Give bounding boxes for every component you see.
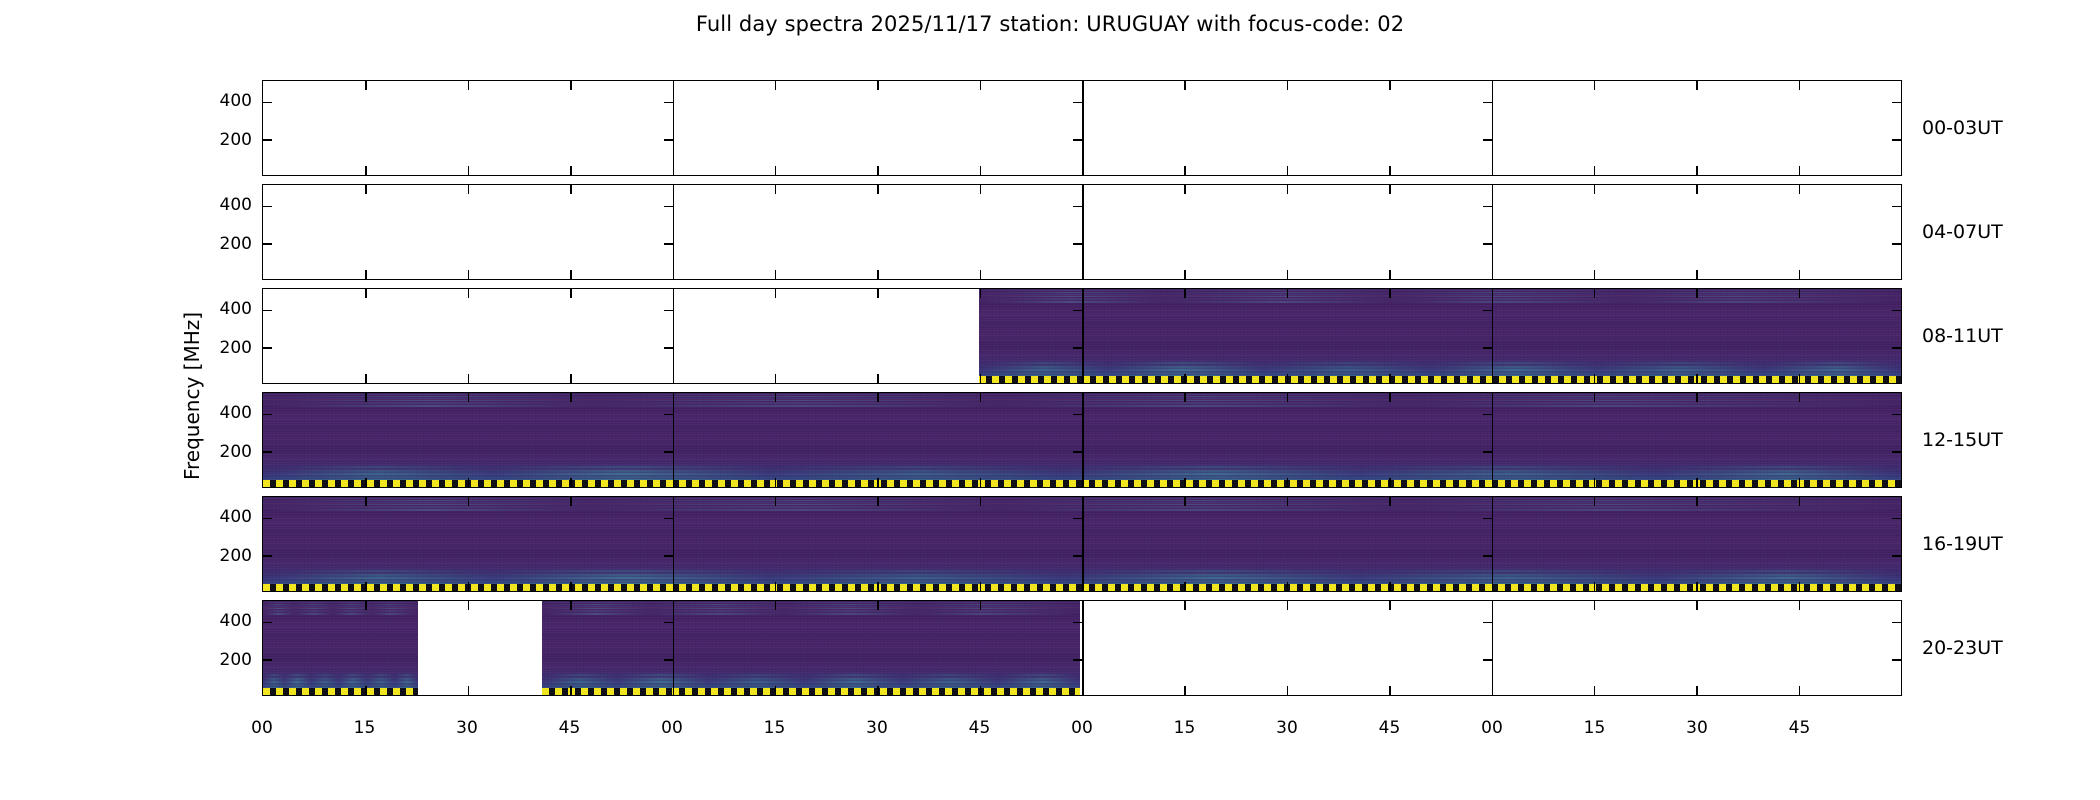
x-tick-mark — [775, 393, 777, 402]
x-tick-mark — [1287, 686, 1289, 695]
x-tick-mark — [980, 374, 982, 383]
x-tick-mark — [980, 270, 982, 279]
y-tick-label: 400 — [192, 611, 252, 631]
x-tick-mark — [980, 166, 982, 175]
x-tick-mark — [365, 166, 367, 175]
x-tick-mark — [570, 185, 572, 194]
row-label-04-07: 04-07UT — [1922, 221, 2003, 243]
x-tick-mark — [1184, 393, 1186, 402]
x-tick-mark — [1799, 686, 1801, 695]
x-tick-mark — [468, 497, 470, 506]
emission-band — [979, 362, 1901, 364]
y-tick-mark-interior — [664, 347, 673, 349]
row-label-12-15: 12-15UT — [1922, 429, 2003, 451]
x-tick-mark — [1389, 686, 1391, 695]
y-tick-mark — [263, 139, 272, 141]
hour-separator — [1082, 393, 1084, 487]
y-tick-label: 200 — [192, 130, 252, 150]
plot-panel[interactable] — [262, 184, 1902, 280]
x-tick-mark — [1696, 601, 1698, 610]
x-tick-mark — [1594, 185, 1596, 194]
x-tick-mark — [1594, 601, 1596, 610]
x-tick-mark — [980, 185, 982, 194]
y-tick-mark-interior — [664, 206, 673, 208]
emission-band — [263, 678, 418, 680]
top-streak — [979, 301, 1901, 303]
hour-separator — [1492, 185, 1494, 279]
x-tick-mark — [1799, 374, 1801, 383]
x-tick-mark — [1696, 81, 1698, 90]
hour-separator — [673, 185, 675, 279]
y-tick-mark — [1892, 206, 1901, 208]
x-tick-mark — [1389, 270, 1391, 279]
x-tick-label: 30 — [456, 718, 478, 738]
top-streak — [263, 606, 418, 608]
figure-title: Full day spectra 2025/11/17 station: URU… — [0, 12, 2100, 36]
top-streaks — [979, 289, 1901, 304]
y-tick-mark — [263, 347, 272, 349]
x-tick-mark — [1389, 81, 1391, 90]
y-tick-mark-interior — [1483, 555, 1492, 557]
x-tick-mark — [1184, 270, 1186, 279]
x-tick-label: 30 — [1276, 718, 1298, 738]
plot-panel[interactable] — [262, 80, 1902, 176]
emission-band — [542, 678, 1079, 680]
y-tick-mark-interior — [664, 659, 673, 661]
x-tick-mark — [570, 497, 572, 506]
emission-band — [979, 369, 1901, 371]
top-streak — [263, 613, 418, 615]
x-tick-mark — [877, 582, 879, 591]
y-tick-mark — [1892, 243, 1901, 245]
x-tick-label: 45 — [559, 718, 581, 738]
hour-separator — [673, 81, 675, 175]
spectrogram-row-00-03[interactable]: 400200 — [262, 80, 1902, 176]
x-tick-mark — [1389, 497, 1391, 506]
x-tick-mark — [468, 374, 470, 383]
plot-panel[interactable] — [262, 392, 1902, 488]
x-tick-mark — [365, 185, 367, 194]
x-tick-mark — [1184, 374, 1186, 383]
x-tick-mark — [365, 601, 367, 610]
x-tick-mark — [775, 497, 777, 506]
y-tick-mark-interior — [664, 102, 673, 104]
y-tick-mark — [1892, 310, 1901, 312]
x-tick-mark — [468, 582, 470, 591]
row-label-00-03: 00-03UT — [1922, 117, 2003, 139]
y-tick-mark — [263, 622, 272, 624]
x-tick-mark — [1799, 270, 1801, 279]
top-streak — [542, 608, 1079, 610]
y-tick-mark-interior — [1483, 347, 1492, 349]
y-tick-mark-interior — [1073, 206, 1082, 208]
emission-band — [979, 372, 1901, 374]
x-tick-label: 15 — [764, 718, 786, 738]
y-tick-mark-interior — [1483, 622, 1492, 624]
x-tick-mark — [365, 393, 367, 402]
x-tick-mark — [980, 582, 982, 591]
x-tick-mark — [1594, 270, 1596, 279]
y-tick-mark-interior — [1073, 243, 1082, 245]
spectrogram-data-region — [542, 601, 1079, 695]
x-tick-mark — [877, 601, 879, 610]
x-tick-mark — [1287, 497, 1289, 506]
emission-band — [263, 674, 418, 676]
x-tick-mark — [980, 81, 982, 90]
x-tick-mark — [570, 81, 572, 90]
y-tick-mark — [1892, 451, 1901, 453]
x-tick-mark — [1799, 393, 1801, 402]
y-tick-mark — [1892, 414, 1901, 416]
plot-panel[interactable] — [262, 288, 1902, 384]
y-tick-mark — [263, 243, 272, 245]
x-tick-mark — [980, 601, 982, 610]
y-tick-mark — [1892, 659, 1901, 661]
hour-separator — [673, 393, 675, 487]
y-tick-mark-interior — [1073, 139, 1082, 141]
x-tick-mark — [775, 166, 777, 175]
x-tick-mark — [1594, 393, 1596, 402]
emission-band — [263, 684, 418, 686]
hour-separator — [1492, 601, 1494, 695]
x-tick-mark — [1696, 166, 1698, 175]
x-tick-mark — [1799, 582, 1801, 591]
spectrogram-row-08-11[interactable]: 400200 — [262, 288, 1902, 384]
x-tick-mark — [1594, 478, 1596, 487]
x-tick-mark — [980, 289, 982, 298]
y-tick-label: 200 — [192, 442, 252, 462]
x-tick-mark — [1184, 81, 1186, 90]
x-tick-mark — [468, 81, 470, 90]
y-tick-mark-interior — [664, 243, 673, 245]
x-tick-mark — [1184, 289, 1186, 298]
x-tick-mark — [570, 686, 572, 695]
x-tick-mark — [1287, 393, 1289, 402]
y-tick-label: 400 — [192, 507, 252, 527]
y-tick-mark — [263, 102, 272, 104]
hour-separator — [1082, 289, 1084, 383]
x-tick-mark — [775, 478, 777, 487]
x-tick-mark — [877, 374, 879, 383]
x-tick-mark — [1389, 582, 1391, 591]
x-tick-mark — [365, 81, 367, 90]
top-streak — [263, 610, 418, 612]
spectrogram-row-20-23[interactable]: 400200 — [262, 600, 1902, 696]
y-tick-label: 200 — [192, 338, 252, 358]
x-tick-mark — [1287, 601, 1289, 610]
y-tick-mark-interior — [1483, 206, 1492, 208]
x-tick-mark — [1287, 289, 1289, 298]
y-tick-mark — [1892, 102, 1901, 104]
x-tick-label: 00 — [661, 718, 683, 738]
y-tick-mark-interior — [1073, 555, 1082, 557]
y-tick-mark-interior — [1483, 659, 1492, 661]
y-tick-mark-interior — [664, 414, 673, 416]
y-tick-mark-interior — [1073, 451, 1082, 453]
x-tick-mark — [775, 289, 777, 298]
x-tick-mark — [1184, 686, 1186, 695]
x-tick-label: 15 — [354, 718, 376, 738]
x-tick-mark — [1389, 185, 1391, 194]
x-tick-mark — [570, 289, 572, 298]
top-streaks — [542, 601, 1079, 616]
emission-band — [979, 366, 1901, 368]
y-tick-label: 200 — [192, 546, 252, 566]
y-tick-mark-interior — [664, 310, 673, 312]
y-tick-mark-interior — [664, 622, 673, 624]
y-tick-mark-interior — [1073, 518, 1082, 520]
emission-band — [542, 674, 1079, 676]
y-tick-mark-interior — [1483, 414, 1492, 416]
x-tick-mark — [775, 374, 777, 383]
y-tick-label: 400 — [192, 299, 252, 319]
x-tick-label: 30 — [1686, 718, 1708, 738]
x-tick-mark — [1389, 166, 1391, 175]
top-streak — [979, 294, 1901, 296]
figure-canvas: Full day spectra 2025/11/17 station: URU… — [0, 0, 2100, 800]
x-tick-mark — [365, 270, 367, 279]
y-tick-mark-interior — [1483, 102, 1492, 104]
y-tick-mark — [1892, 139, 1901, 141]
x-tick-label: 30 — [866, 718, 888, 738]
spectrogram-row-16-19[interactable]: 400200 — [262, 496, 1902, 592]
x-tick-mark — [468, 393, 470, 402]
y-tick-label: 400 — [192, 195, 252, 215]
y-tick-mark-interior — [664, 518, 673, 520]
x-tick-mark — [775, 270, 777, 279]
x-tick-mark — [1696, 393, 1698, 402]
x-tick-mark — [980, 497, 982, 506]
emission-band — [542, 681, 1079, 683]
x-tick-mark — [468, 289, 470, 298]
x-tick-mark — [1696, 497, 1698, 506]
x-tick-mark — [1594, 289, 1596, 298]
y-tick-mark — [263, 659, 272, 661]
x-tick-mark — [1799, 289, 1801, 298]
top-streak — [263, 608, 418, 610]
hour-separator — [1082, 497, 1084, 591]
x-tick-mark — [570, 478, 572, 487]
y-tick-mark — [263, 451, 272, 453]
x-tick-mark — [1696, 270, 1698, 279]
x-tick-mark — [1287, 270, 1289, 279]
x-tick-label: 45 — [1379, 718, 1401, 738]
y-tick-label: 200 — [192, 650, 252, 670]
x-tick-mark — [1594, 374, 1596, 383]
x-tick-mark — [877, 393, 879, 402]
y-tick-mark — [263, 414, 272, 416]
x-tick-mark — [775, 582, 777, 591]
hour-separator — [1492, 497, 1494, 591]
y-tick-mark — [1892, 518, 1901, 520]
x-tick-label: 15 — [1174, 718, 1196, 738]
x-tick-label: 15 — [1584, 718, 1606, 738]
x-tick-mark — [877, 478, 879, 487]
x-tick-mark — [1696, 582, 1698, 591]
emission-band — [542, 684, 1079, 686]
y-tick-mark — [263, 555, 272, 557]
x-tick-label: 00 — [251, 718, 273, 738]
x-tick-mark — [365, 374, 367, 383]
y-tick-mark-interior — [1483, 451, 1492, 453]
marker-dashed-band — [979, 376, 1901, 383]
hour-separator — [673, 289, 675, 383]
x-tick-mark — [775, 601, 777, 610]
emission-band — [263, 681, 418, 683]
x-tick-mark — [1594, 81, 1596, 90]
x-tick-mark — [1389, 478, 1391, 487]
x-tick-mark — [1184, 166, 1186, 175]
x-tick-mark — [1799, 601, 1801, 610]
spectrogram-data-region — [263, 601, 418, 695]
y-tick-label: 200 — [192, 234, 252, 254]
y-tick-mark-interior — [664, 555, 673, 557]
x-tick-mark — [1184, 497, 1186, 506]
hour-separator — [1492, 289, 1494, 383]
x-tick-label: 45 — [969, 718, 991, 738]
x-tick-mark — [1799, 478, 1801, 487]
x-tick-mark — [570, 601, 572, 610]
top-streak — [542, 606, 1079, 608]
x-tick-mark — [1799, 497, 1801, 506]
x-tick-mark — [980, 393, 982, 402]
x-tick-mark — [1389, 393, 1391, 402]
x-tick-mark — [365, 582, 367, 591]
x-tick-label: 00 — [1071, 718, 1093, 738]
x-tick-mark — [1594, 497, 1596, 506]
x-tick-mark — [1696, 289, 1698, 298]
x-tick-mark — [775, 81, 777, 90]
x-tick-mark — [1184, 582, 1186, 591]
x-tick-mark — [1594, 166, 1596, 175]
marker-dashed-band — [542, 688, 1079, 695]
x-tick-mark — [775, 185, 777, 194]
y-tick-mark-interior — [664, 139, 673, 141]
top-streak — [979, 296, 1901, 298]
x-tick-mark — [1287, 166, 1289, 175]
x-tick-mark — [1696, 185, 1698, 194]
spectrogram-data-region — [979, 289, 1901, 383]
x-tick-mark — [365, 686, 367, 695]
y-tick-label: 400 — [192, 403, 252, 423]
x-tick-mark — [365, 478, 367, 487]
y-tick-mark-interior — [1073, 102, 1082, 104]
y-tick-mark-interior — [1483, 518, 1492, 520]
y-tick-mark-interior — [1483, 139, 1492, 141]
y-tick-mark-interior — [1483, 310, 1492, 312]
y-tick-mark-interior — [1483, 243, 1492, 245]
x-tick-label: 45 — [1789, 718, 1811, 738]
x-tick-label: 00 — [1481, 718, 1503, 738]
x-tick-mark — [1799, 81, 1801, 90]
x-tick-mark — [1594, 582, 1596, 591]
y-tick-mark-interior — [1073, 414, 1082, 416]
y-tick-mark-interior — [1073, 310, 1082, 312]
x-tick-mark — [468, 478, 470, 487]
x-tick-mark — [980, 478, 982, 487]
hour-separator — [673, 497, 675, 591]
x-tick-mark — [1287, 81, 1289, 90]
x-tick-mark — [1287, 374, 1289, 383]
x-tick-mark — [877, 166, 879, 175]
x-tick-mark — [1287, 478, 1289, 487]
hour-separator — [1082, 81, 1084, 175]
y-tick-mark — [1892, 622, 1901, 624]
y-tick-mark-interior — [1073, 622, 1082, 624]
x-tick-mark — [468, 686, 470, 695]
x-tick-mark — [468, 185, 470, 194]
top-streak — [542, 613, 1079, 615]
x-tick-mark — [570, 270, 572, 279]
top-streaks — [263, 601, 418, 616]
x-tick-mark — [1184, 601, 1186, 610]
hour-separator — [1082, 601, 1084, 695]
y-tick-mark — [1892, 347, 1901, 349]
marker-dashed-band — [263, 688, 418, 695]
x-tick-mark — [1389, 601, 1391, 610]
y-tick-mark-interior — [664, 451, 673, 453]
y-tick-mark-interior — [1073, 347, 1082, 349]
x-tick-mark — [570, 166, 572, 175]
x-tick-mark — [1696, 686, 1698, 695]
plot-panel[interactable] — [262, 600, 1902, 696]
y-tick-mark-interior — [1073, 659, 1082, 661]
x-tick-mark — [877, 497, 879, 506]
hour-separator — [673, 601, 675, 695]
x-tick-mark — [468, 166, 470, 175]
row-label-08-11: 08-11UT — [1922, 325, 2003, 347]
spectrogram-row-12-15[interactable]: 400200 — [262, 392, 1902, 488]
x-tick-mark — [1799, 185, 1801, 194]
y-tick-mark — [263, 310, 272, 312]
x-tick-mark — [365, 497, 367, 506]
spectrogram-row-04-07[interactable]: 400200 — [262, 184, 1902, 280]
x-tick-mark — [1287, 185, 1289, 194]
x-tick-mark — [1389, 289, 1391, 298]
x-tick-mark — [1696, 374, 1698, 383]
x-tick-mark — [1184, 185, 1186, 194]
x-tick-mark — [877, 81, 879, 90]
x-tick-mark — [877, 185, 879, 194]
top-streak — [979, 298, 1901, 300]
y-tick-mark — [263, 518, 272, 520]
x-tick-mark — [1184, 478, 1186, 487]
x-tick-mark — [1389, 374, 1391, 383]
x-tick-mark — [775, 686, 777, 695]
x-tick-mark — [468, 601, 470, 610]
x-tick-mark — [365, 289, 367, 298]
x-tick-mark — [980, 686, 982, 695]
plot-panel[interactable] — [262, 496, 1902, 592]
x-tick-mark — [1799, 166, 1801, 175]
x-tick-mark — [1594, 686, 1596, 695]
hour-separator — [1082, 185, 1084, 279]
top-streak — [542, 610, 1079, 612]
row-label-20-23: 20-23UT — [1922, 637, 2003, 659]
x-tick-mark — [570, 374, 572, 383]
y-tick-mark — [263, 206, 272, 208]
x-tick-mark — [570, 393, 572, 402]
row-label-16-19: 16-19UT — [1922, 533, 2003, 555]
hour-separator — [1492, 393, 1494, 487]
hour-separator — [1492, 81, 1494, 175]
x-tick-mark — [877, 270, 879, 279]
x-tick-mark — [570, 582, 572, 591]
x-tick-mark — [877, 289, 879, 298]
x-tick-mark — [1696, 478, 1698, 487]
x-tick-mark — [1287, 582, 1289, 591]
x-tick-mark — [468, 270, 470, 279]
